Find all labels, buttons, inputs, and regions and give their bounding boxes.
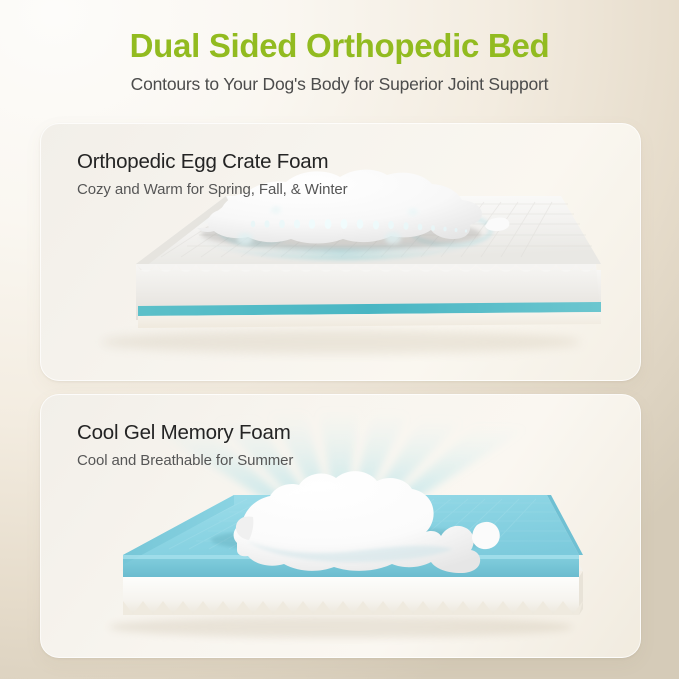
card-heading-group-1: Orthopedic Egg Crate Foam Cozy and Warm … [77, 150, 348, 198]
header: Dual Sided Orthopedic Bed Contours to Yo… [0, 0, 679, 95]
page-subtitle: Contours to Your Dog's Body for Superior… [0, 74, 679, 95]
card-title-cool-gel-memory-foam: Cool Gel Memory Foam [77, 421, 293, 445]
page-title: Dual Sided Orthopedic Bed [0, 26, 679, 66]
card-heading-group-2: Cool Gel Memory Foam Cool and Breathable… [77, 421, 293, 469]
slab-shadow [101, 330, 581, 354]
base-foam-front-face [123, 577, 579, 615]
slab-shadow [109, 616, 573, 638]
card-subtitle-egg-crate-foam: Cozy and Warm for Spring, Fall, & Winter [77, 181, 348, 198]
product-infographic: Dual Sided Orthopedic Bed Contours to Yo… [0, 0, 679, 679]
dog-hind-paw [472, 522, 500, 549]
card-title-egg-crate-foam: Orthopedic Egg Crate Foam [77, 150, 348, 174]
feature-card-egg-crate-foam: Orthopedic Egg Crate Foam Cozy and Warm … [40, 123, 641, 381]
card-subtitle-cool-gel-memory-foam: Cool and Breathable for Summer [77, 452, 293, 469]
feature-card-cool-gel-memory-foam: Cool Gel Memory Foam Cool and Breathable… [40, 394, 641, 658]
